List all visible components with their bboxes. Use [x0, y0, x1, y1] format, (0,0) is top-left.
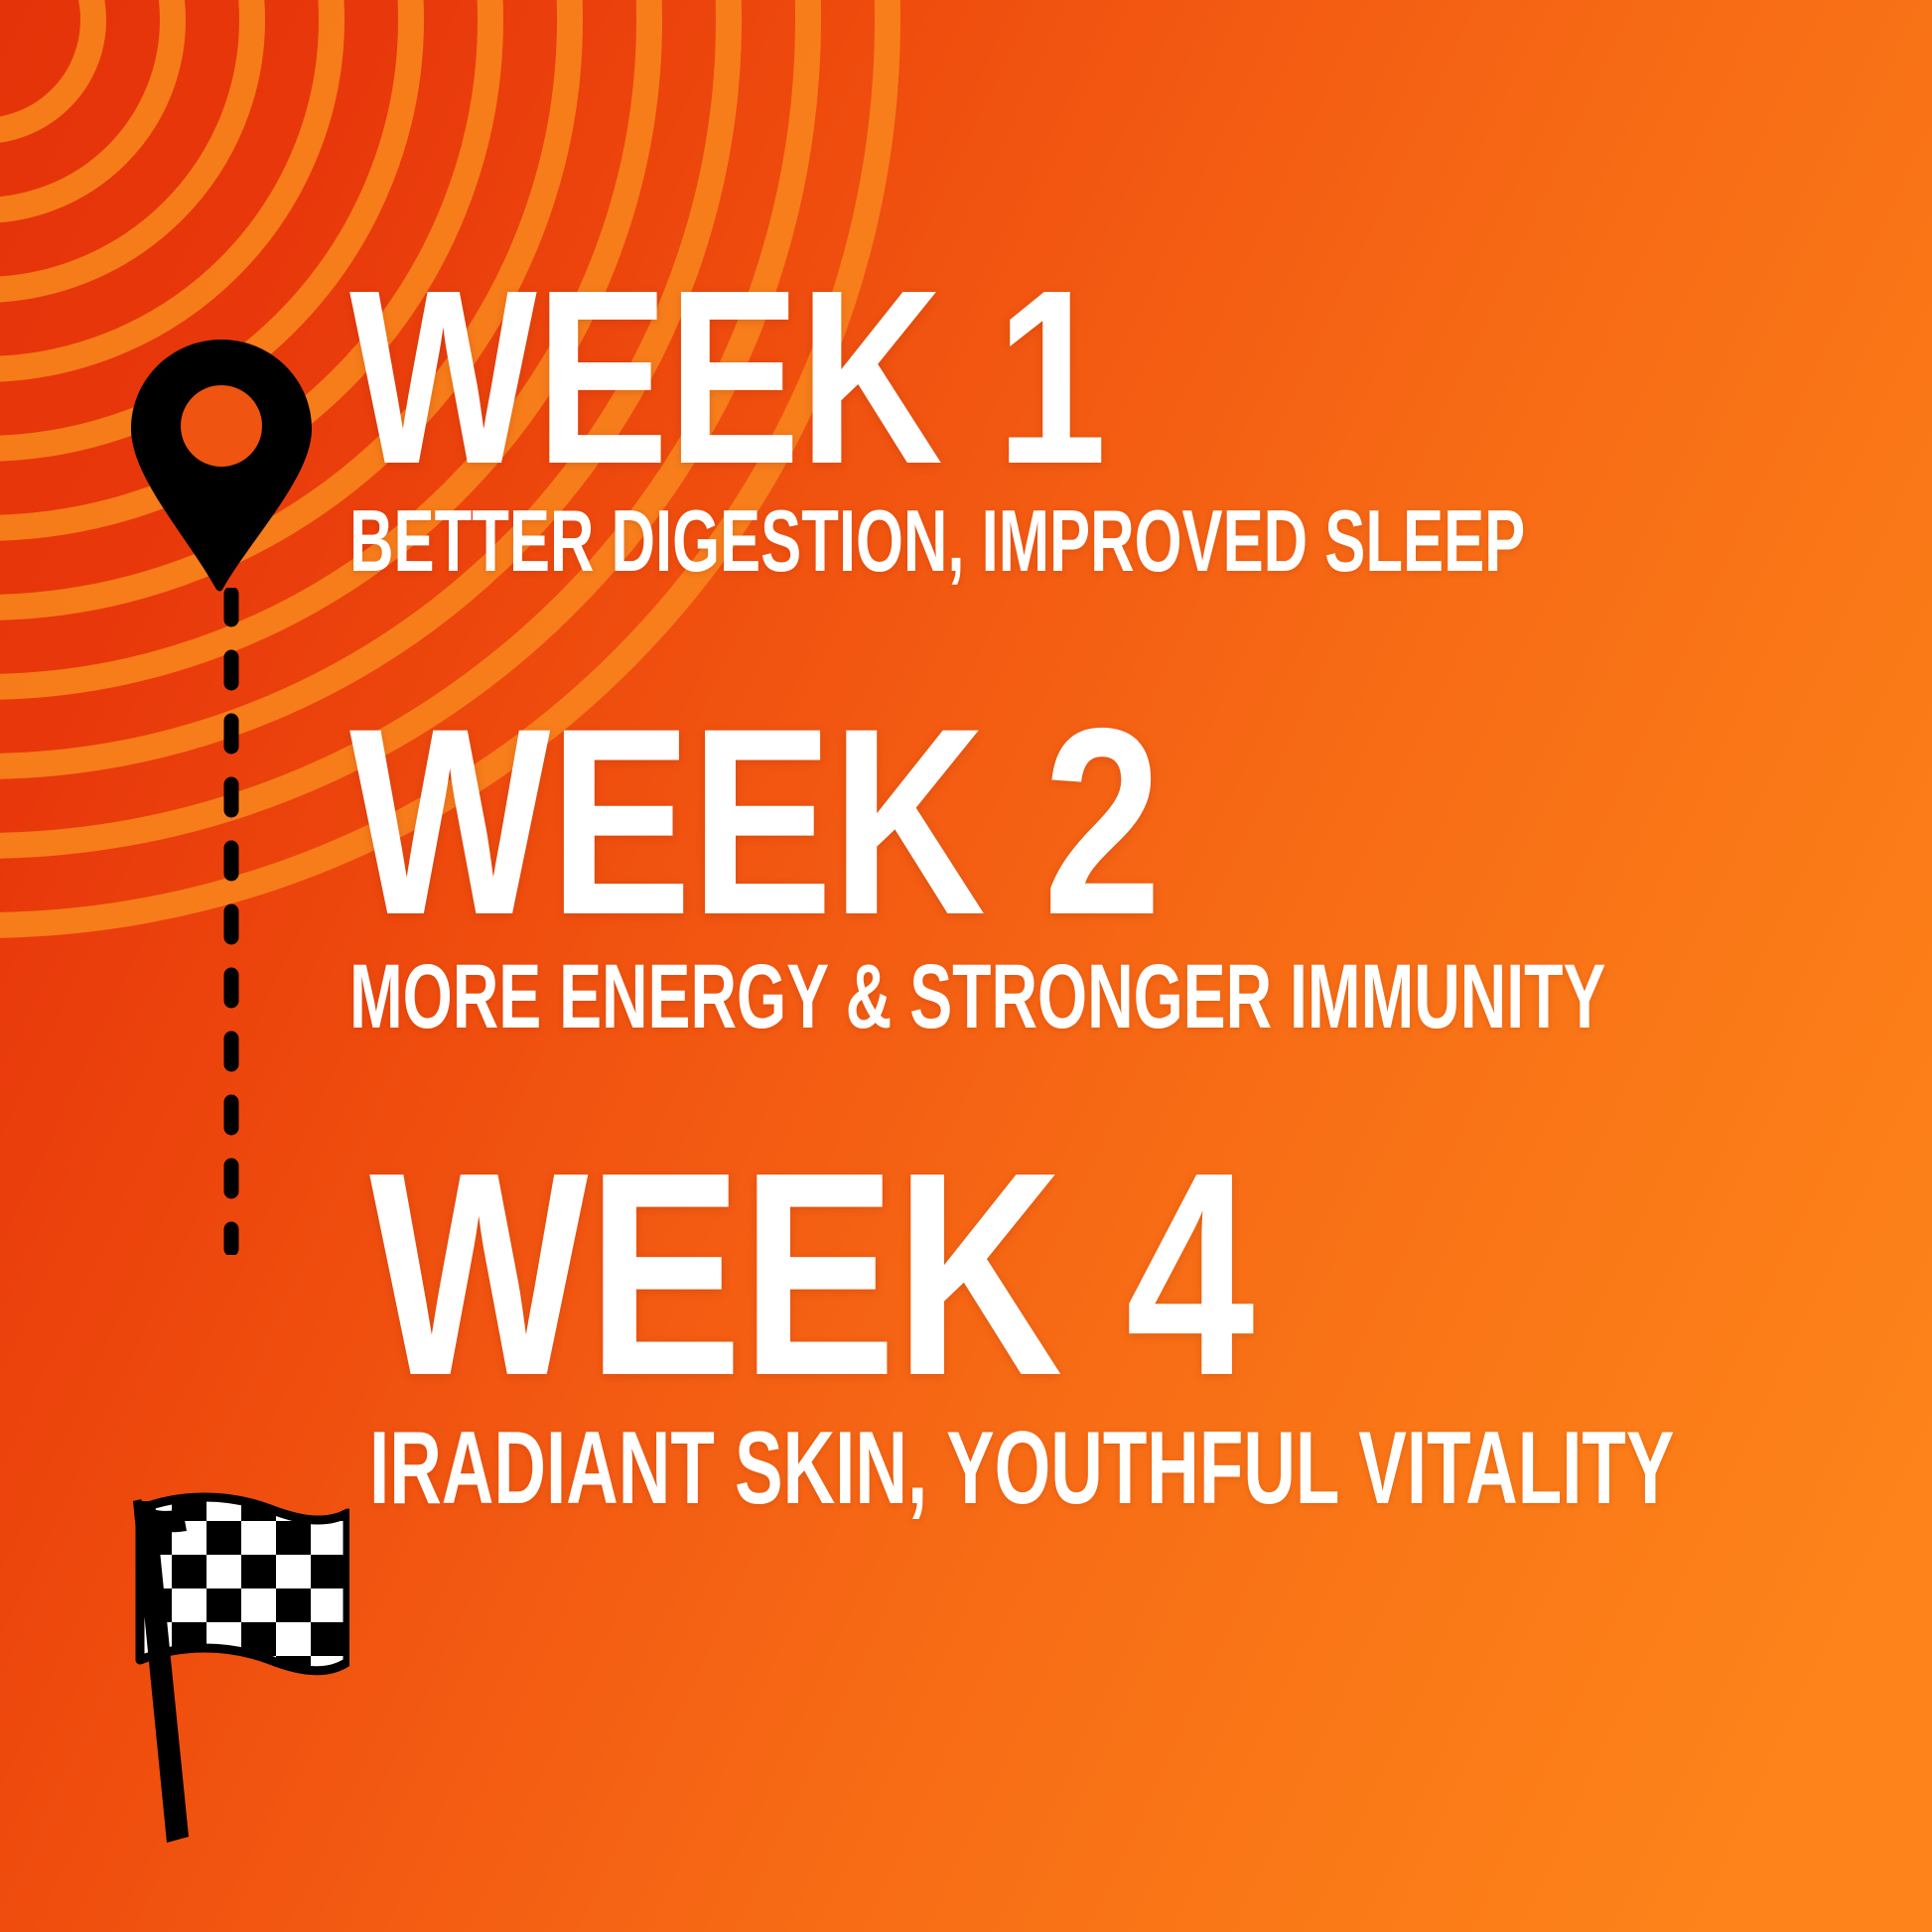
- milestone-subtitle-week-1: BETTER DIGESTION, IMPROVED SLEEP: [349, 497, 1434, 585]
- milestone-week-2: WEEK 2 MORE ENERGY & STRONGER IMMUNITY: [349, 707, 1898, 1042]
- milestone-title-week-2: WEEK 2: [349, 707, 1588, 935]
- poster-canvas: WEEK 1 BETTER DIGESTION, IMPROVED SLEEP …: [0, 0, 1932, 1932]
- milestone-subtitle-week-4: IRADIANT SKIN, YOUTHFUL VITALITY: [369, 1417, 1453, 1520]
- dashed-line-icon: [204, 588, 259, 1255]
- milestone-week-4: WEEK 4 IRADIANT SKIN, YOUTHFUL VITALITY: [369, 1150, 1918, 1520]
- concentric-rings-decoration: [0, 0, 1241, 1241]
- milestone-subtitle-week-2: MORE ENERGY & STRONGER IMMUNITY: [349, 951, 1434, 1042]
- checkered-flag-icon: [111, 1487, 349, 1847]
- milestone-week-1: WEEK 1 BETTER DIGESTION, IMPROVED SLEEP: [349, 270, 1898, 585]
- map-pin-icon: [127, 338, 316, 594]
- milestone-title-week-1: WEEK 1: [349, 270, 1588, 483]
- milestone-title-week-4: WEEK 4: [369, 1150, 1608, 1399]
